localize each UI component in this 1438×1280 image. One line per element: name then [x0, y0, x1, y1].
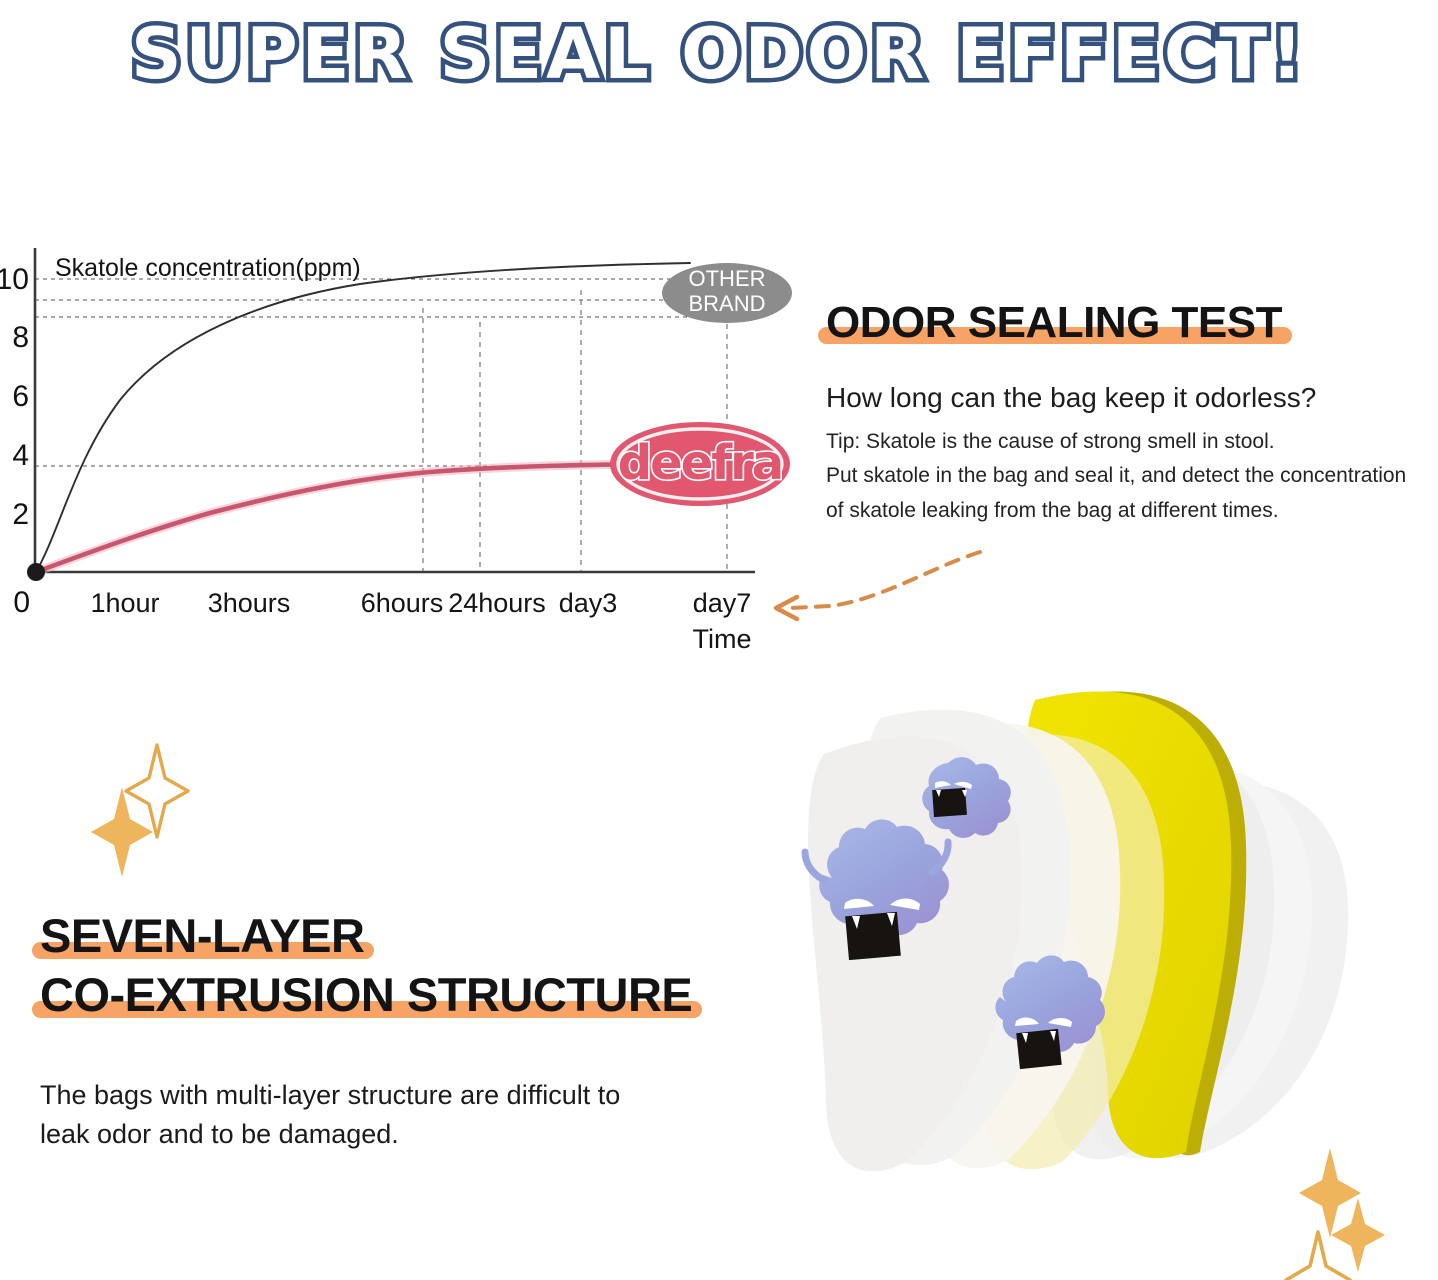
structure-heading-line-1-text: SEVEN-LAYER [40, 909, 364, 962]
odor-body: Tip: Skatole is the cause of strong smel… [826, 425, 1426, 529]
bag-layer-yellow [1027, 691, 1231, 1158]
structure-heading-line-1: SEVEN-LAYER [40, 912, 364, 961]
structure-heading-line-2-text: CO-EXTRUSION STRUCTURE [40, 968, 692, 1021]
xtick-6hours: 6hours [361, 588, 444, 618]
odor-body-line-3: of skatole leaking from the bag at diffe… [826, 494, 1426, 529]
sparkle-icon-outline [1286, 1232, 1350, 1280]
ytick-8: 8 [12, 321, 29, 354]
xtick-24hours: 24hours [448, 588, 546, 618]
structure-body: The bags with multi-layer structure are … [40, 1076, 780, 1154]
bag-layer-pale-yellow [968, 734, 1164, 1169]
xtick-3hours: 3hours [208, 588, 291, 618]
series-deefra-line [36, 464, 700, 572]
bag-layer-1 [808, 736, 1022, 1171]
chart-y-ticklabels: 10 8 6 4 2 0 [0, 263, 30, 619]
bag-layer-7 [1126, 781, 1348, 1157]
structure-heading-line-2: CO-EXTRUSION STRUCTURE [40, 971, 692, 1020]
ytick-6: 6 [12, 380, 29, 413]
ytick-0: 0 [13, 586, 30, 619]
legend-badge-deefra: deefra [610, 422, 790, 506]
ytick-4: 4 [12, 439, 29, 472]
bag-layer-3 [913, 722, 1121, 1168]
odor-subheading: How long can the bag keep it odorless? [826, 380, 1426, 415]
odor-body-line-2: Put skatole in the bag and seal it, and … [826, 459, 1426, 494]
legend-badge-other-brand: OTHER BRAND [662, 263, 792, 323]
sparkle-icon-filled [1299, 1148, 1361, 1238]
page-title-banner: SUPER SEAL ODOR EFFECT! [0, 4, 1438, 104]
odor-sealing-test-heading: ODOR SEALING TEST [826, 300, 1282, 346]
bag-layer-2 [860, 710, 1070, 1166]
series-other-brand-line [36, 263, 690, 572]
germ-character-small-top [922, 757, 1011, 838]
sparkle-icon-filled [91, 787, 153, 877]
legend-other-brand-line2: BRAND [688, 291, 765, 316]
multi-layer-bag-illustration [808, 691, 1348, 1171]
page-title: SUPER SEAL ODOR EFFECT! [131, 19, 1307, 89]
ytick-10: 10 [0, 263, 29, 296]
xtick-day3: day3 [559, 588, 618, 618]
chart-x-ticklabels: 1hour 3hours 6hours 24hours day3 day7 Ti… [90, 588, 751, 654]
odor-sealing-test-panel: ODOR SEALING TEST How long can the bag k… [826, 300, 1426, 529]
xtick-day7: day7 [693, 588, 752, 618]
seven-layer-structure-panel: SEVEN-LAYER CO-EXTRUSION STRUCTURE The b… [40, 912, 840, 1154]
ytick-2: 2 [12, 498, 29, 531]
sparkle-group-bottom-right [1286, 1148, 1385, 1280]
bag-layer-yellow-edge [1046, 691, 1247, 1155]
legend-deefra-label: deefra [618, 435, 782, 491]
sparkle-icon-outline [126, 745, 188, 837]
structure-body-line-2: leak odor and to be damaged. [40, 1115, 780, 1154]
germ-character-small-bottom [995, 955, 1105, 1069]
bag-layer-5 [1050, 745, 1274, 1160]
odor-sealing-test-heading-text: ODOR SEALING TEST [826, 298, 1282, 347]
chart-xlabel: Time [693, 624, 752, 654]
sparkle-icon-filled-small [1331, 1198, 1385, 1272]
structure-body-line-1: The bags with multi-layer structure are … [40, 1076, 780, 1115]
chart-origin-marker [27, 563, 45, 581]
xtick-1hour: 1hour [90, 588, 159, 618]
odor-body-line-1: Tip: Skatole is the cause of strong smel… [826, 425, 1426, 460]
bag-layer-6 [1088, 762, 1312, 1158]
chart-axis-title: Skatole concentration(ppm) [55, 254, 361, 282]
sparkle-group-left [91, 745, 188, 877]
odor-test-chart: 10 8 6 4 2 0 Skatole concentration(ppm) … [0, 230, 810, 660]
legend-other-brand-line1: OTHER [689, 266, 766, 291]
